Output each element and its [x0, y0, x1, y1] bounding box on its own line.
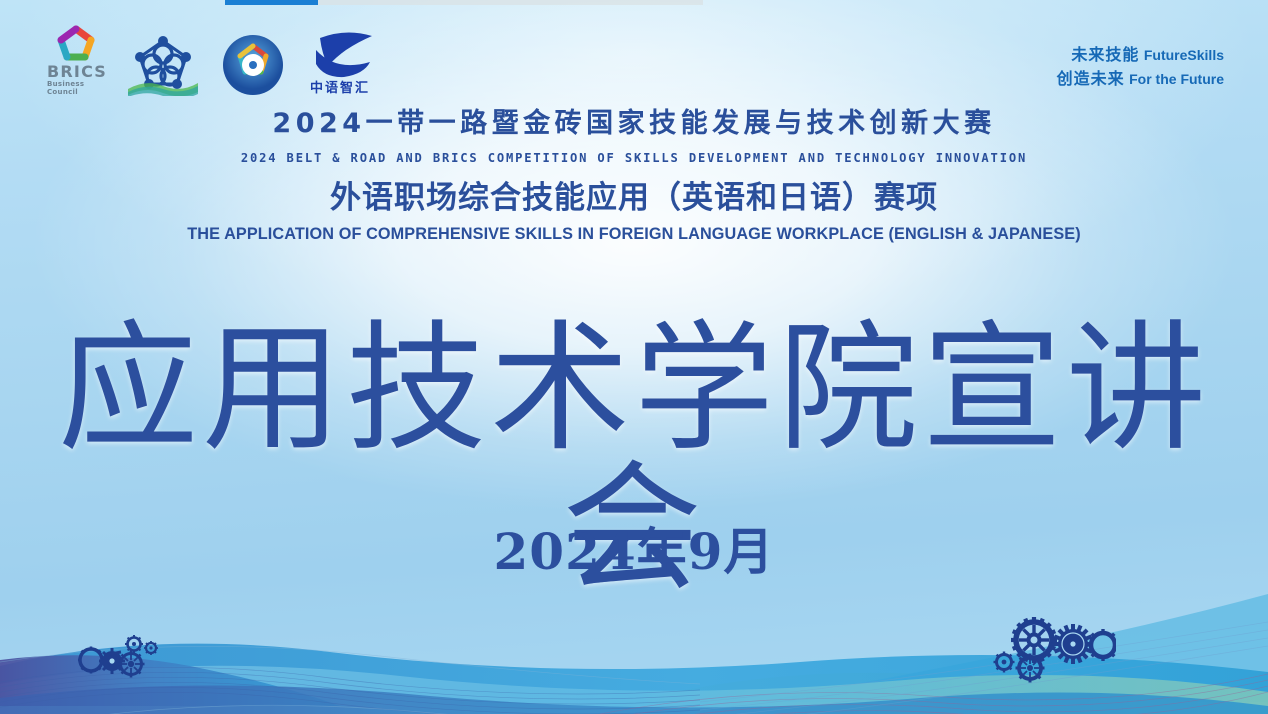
logo-brics-business-council: BRICS Business Council [46, 24, 104, 96]
competition-title-en: 2024 BELT & ROAD AND BRICS COMPETITION O… [19, 150, 1249, 165]
event-title-en: THE APPLICATION OF COMPREHENSIVE SKILLS … [10, 225, 1259, 244]
gear-cluster-icon-left [78, 632, 164, 682]
heading-block: 2024一带一路暨金砖国家技能发展与技术创新大赛 2024 BELT & ROA… [0, 106, 1268, 244]
interlocking-rings-icon [126, 34, 200, 96]
slogan-line1-en: FutureSkills [1144, 47, 1224, 63]
slogan-block: 未来技能 FutureSkills 创造未来 For the Future [1057, 44, 1224, 91]
brics-logo-line2: Business Council [47, 80, 104, 96]
event-title-cn: 外语职场综合技能应用（英语和日语）赛项 [0, 172, 1268, 217]
progress-fill [225, 0, 318, 5]
logo-zhongyu-zhihui: 中语智汇 [306, 30, 384, 96]
round-badge-icon [222, 34, 284, 96]
brics-logo-line1: BRICS [47, 62, 107, 81]
logo-row: BRICS Business Council [46, 24, 384, 96]
zhongyu-zhihui-label: 中语智汇 [310, 77, 370, 96]
slogan-line-2: 创造未来 For the Future [1057, 68, 1224, 92]
slogan-line2-cn: 创造未来 [1057, 69, 1125, 88]
slide-canvas: BRICS Business Council [0, 0, 1268, 714]
swoosh-mark-icon [306, 30, 384, 80]
competition-title-cn: 2024一带一路暨金砖国家技能发展与技术创新大赛 [0, 106, 1268, 141]
slogan-line-1: 未来技能 FutureSkills [1057, 44, 1224, 68]
slogan-line1-cn: 未来技能 [1071, 45, 1139, 64]
presentation-progress-bar[interactable] [225, 0, 703, 5]
logo-competition-round-emblem [222, 34, 284, 96]
brics-star-icon [50, 24, 102, 64]
logo-brics-skills-emblem [126, 34, 200, 96]
gear-cluster-icon-right [990, 612, 1116, 684]
slogan-line2-en: For the Future [1129, 71, 1224, 87]
